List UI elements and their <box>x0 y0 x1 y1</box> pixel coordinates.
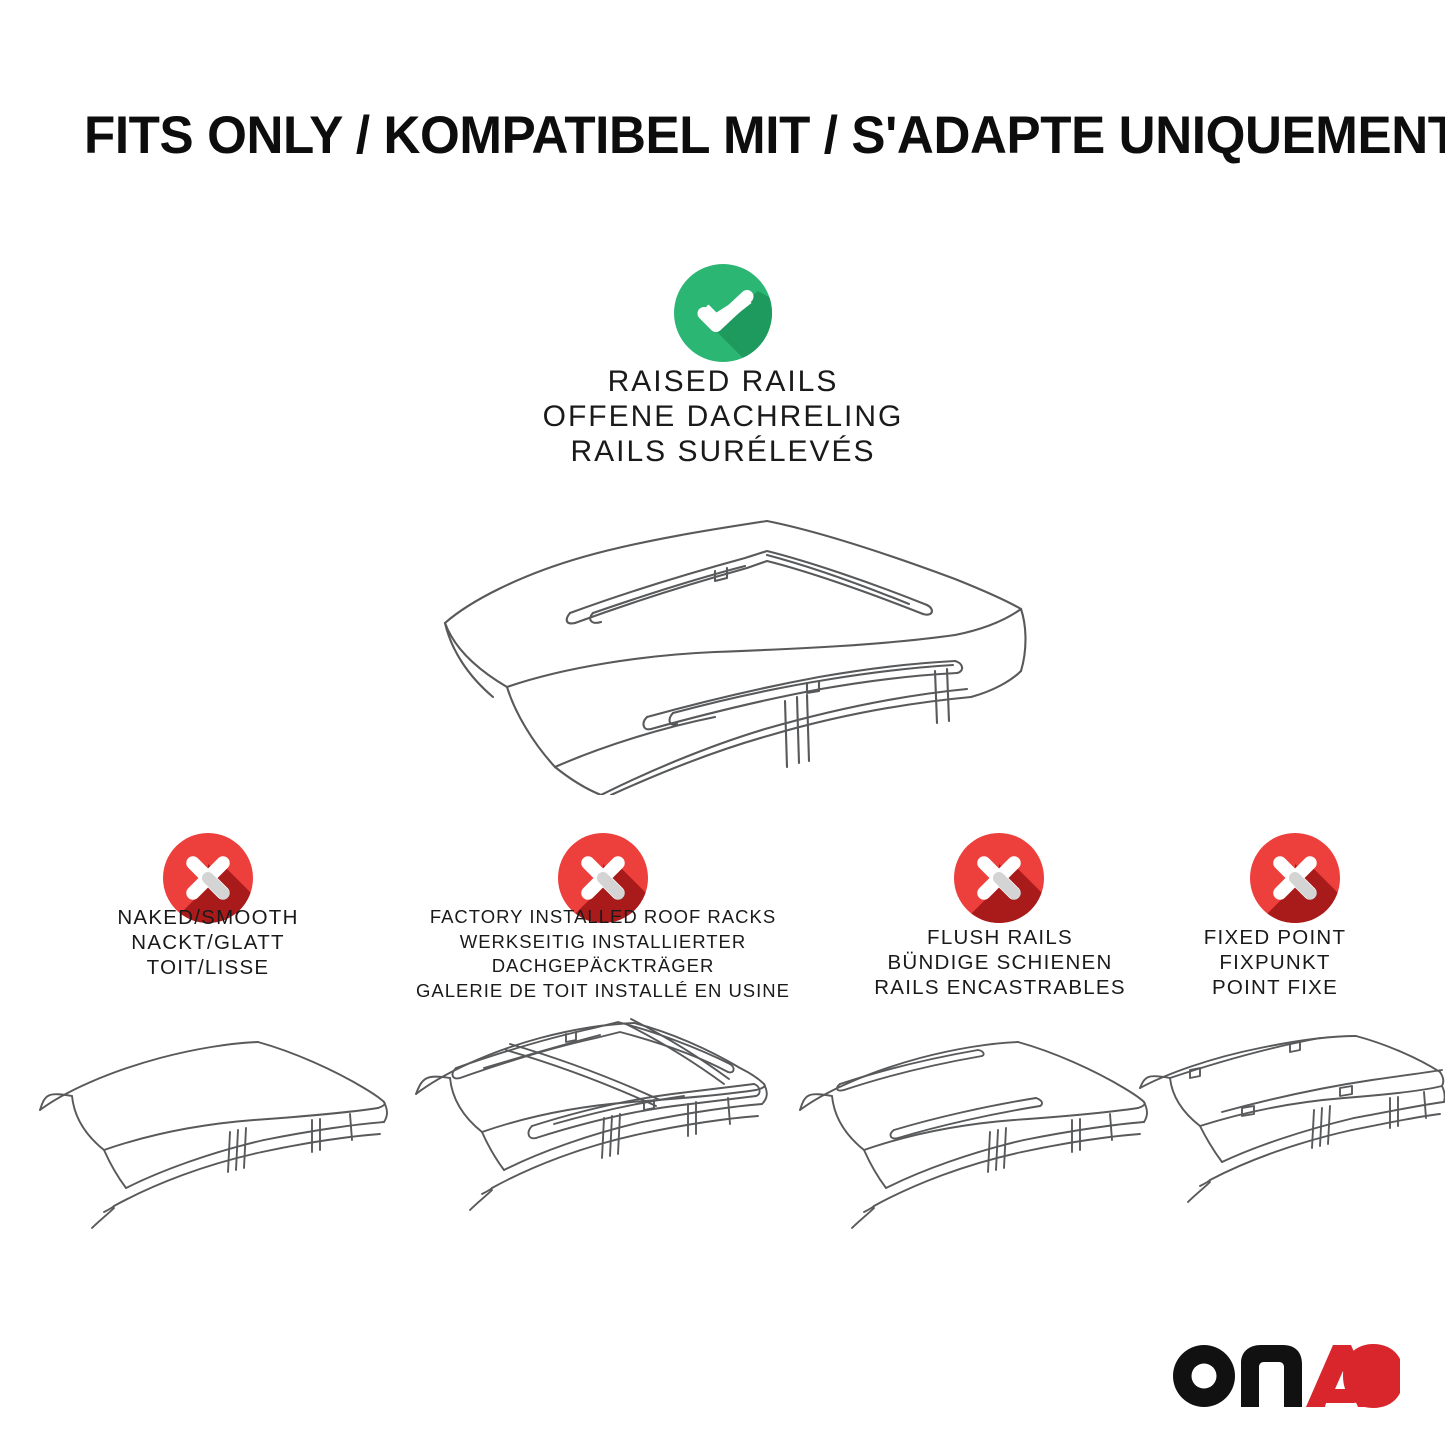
compatible-line-2: OFFENE DACHRELING <box>423 399 1023 434</box>
incompatible-1-line-2: NACKT/GLATT <box>20 930 396 955</box>
page-title: FITS ONLY / KOMPATIBEL MIT / S'ADAPTE UN… <box>84 108 1329 164</box>
incompatible-1-line-3: TOIT/LISSE <box>20 955 396 980</box>
incompatible-caption-factory-racks: FACTORY INSTALLED ROOF RACKS WERKSEITIG … <box>368 905 838 1003</box>
car-roof-flush-rails-illustration <box>782 1022 1154 1252</box>
car-roof-raised-rails-illustration <box>415 495 1035 795</box>
incompatible-2-line-3: DACHGEPÄCKTRÄGER <box>368 954 838 979</box>
incompatible-caption-naked-smooth: NAKED/SMOOTH NACKT/GLATT TOIT/LISSE <box>20 905 396 980</box>
incompatible-4-line-1: FIXED POINT <box>1110 925 1440 950</box>
omac-logo <box>1171 1341 1401 1411</box>
incompatible-2-line-1: FACTORY INSTALLED ROOF RACKS <box>368 905 838 930</box>
logo-letter-o <box>1173 1345 1235 1407</box>
car-roof-factory-roof-racks-illustration <box>404 1002 782 1252</box>
car-roof-naked-smooth-illustration <box>22 1022 394 1252</box>
incompatible-4-line-2: FIXPUNKT <box>1110 950 1440 975</box>
check-circle-icon <box>663 253 783 373</box>
logo-letter-c <box>1343 1344 1400 1408</box>
incompatible-2-line-2: WERKSEITIG INSTALLIERTER <box>368 930 838 955</box>
incompatible-1-line-1: NAKED/SMOOTH <box>20 905 396 930</box>
compatible-caption: RAISED RAILS OFFENE DACHRELING RAILS SUR… <box>423 364 1023 469</box>
incompatible-caption-fixed-point: FIXED POINT FIXPUNKT POINT FIXE <box>1110 925 1440 1000</box>
compatible-line-1: RAISED RAILS <box>423 364 1023 399</box>
compatible-line-3: RAILS SURÉLEVÉS <box>423 434 1023 469</box>
incompatible-4-line-3: POINT FIXE <box>1110 975 1440 1000</box>
compatibility-infographic: FITS ONLY / KOMPATIBEL MIT / S'ADAPTE UN… <box>0 0 1445 1445</box>
cross-circle-icon-fixed-point <box>1245 828 1345 928</box>
logo-letter-m <box>1241 1345 1302 1407</box>
cross-circle-icon-flush-rails <box>949 828 1049 928</box>
incompatible-2-line-4: GALERIE DE TOIT INSTALLÉ EN USINE <box>368 979 838 1004</box>
car-roof-fixed-point-illustration <box>1134 1022 1445 1252</box>
